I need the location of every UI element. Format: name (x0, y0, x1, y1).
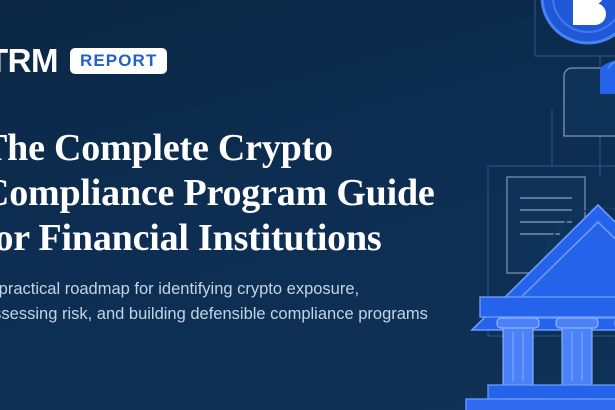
page-title-line-2: Compliance Program Guide (0, 171, 502, 216)
report-cover: TRM REPORT The Complete Crypto Complianc… (0, 0, 615, 410)
page-subtitle-line-1: A practical roadmap for identifying cryp… (0, 277, 464, 302)
page-subtitle-line-2: assessing risk, and building defensible … (0, 302, 464, 327)
page-title-line-3: for Financial Institutions (0, 216, 502, 261)
sphere-outline-icon (544, 208, 615, 328)
brand-lockup: TRM REPORT (0, 44, 167, 77)
crypto-coin-icon (542, 0, 615, 43)
page-title-line-1: The Complete Crypto (0, 126, 502, 171)
page-subtitle: A practical roadmap for identifying cryp… (0, 277, 464, 327)
document-icon (507, 177, 585, 273)
report-badge: REPORT (70, 48, 167, 74)
trm-wordmark: TRM (0, 44, 58, 77)
wallet-icon (564, 58, 615, 136)
bitcoin-glyph (573, 0, 606, 25)
page-title: The Complete Crypto Compliance Program G… (0, 126, 502, 261)
